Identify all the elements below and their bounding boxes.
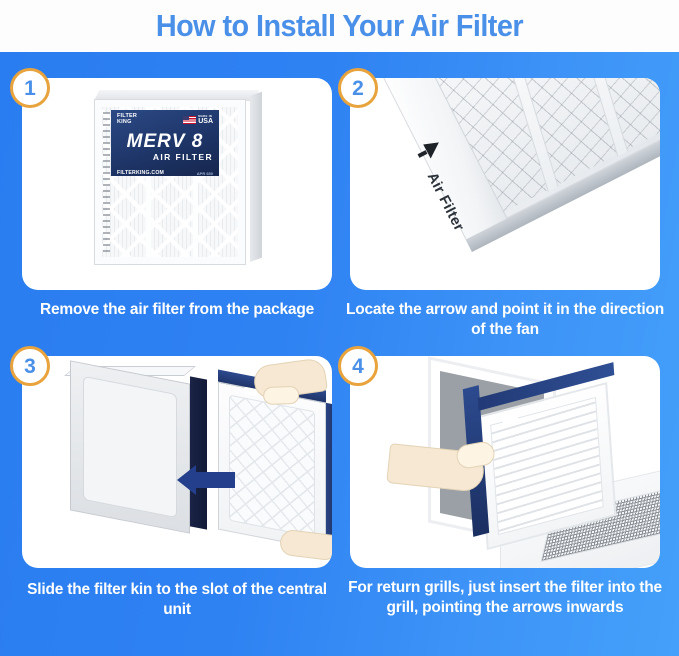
- made-in-country: USA: [198, 118, 213, 125]
- step-number-4: 4: [352, 356, 364, 377]
- brand-line-2: KING: [117, 120, 137, 126]
- hand-icon-bottom: [279, 529, 332, 562]
- made-in-usa-mark: MADE IN USA: [183, 115, 213, 125]
- apr-code: APR 650: [197, 171, 213, 176]
- step-card-1: FILTER KING MADE IN USA MER: [22, 78, 332, 290]
- step-number-badge-2: 2: [338, 68, 378, 108]
- step-caption-3: Slide the filter kin to the slot of the …: [17, 580, 337, 620]
- step-1-image-card: FILTER KING MADE IN USA MER: [22, 78, 332, 290]
- page-title: How to Install Your Air Filter: [156, 8, 523, 44]
- slide-direction-arrow-icon: [195, 472, 235, 488]
- brand-website: FILTERKING.COM: [117, 170, 164, 176]
- central-unit-panel: [83, 376, 177, 518]
- product-label: FILTER KING MADE IN USA MER: [111, 110, 219, 176]
- central-unit-slot-depth: [190, 376, 207, 529]
- step-3-illustration: [22, 356, 332, 568]
- filter-side-depth: [250, 92, 262, 262]
- step-card-4: 4: [350, 356, 660, 568]
- step-3-image-card: [22, 356, 332, 568]
- step-caption-2: Locate the arrow and point it in the dir…: [345, 300, 665, 340]
- step-number-1: 1: [24, 78, 36, 99]
- step-4-image-card: [350, 356, 660, 568]
- filter-pleat-edge: [103, 112, 110, 252]
- usa-flag-icon: [183, 116, 196, 124]
- step-1-illustration: FILTER KING MADE IN USA MER: [22, 78, 332, 290]
- label-footer-row: FILTERKING.COM APR 650: [117, 170, 213, 176]
- step-2-image-card: Air Filter: [350, 78, 660, 290]
- step-2-illustration: Air Filter: [350, 78, 660, 290]
- step-caption-4: For return grills, just insert the filte…: [345, 578, 665, 618]
- step-number-badge-1: 1: [10, 68, 50, 108]
- step-4-illustration: [350, 356, 660, 568]
- filter-front-face: FILTER KING MADE IN USA MER: [94, 99, 246, 265]
- hand-icon: [386, 443, 486, 493]
- step-card-2: Air Filter 2: [350, 78, 660, 290]
- product-type: AIR FILTER: [117, 152, 213, 162]
- step-number-badge-3: 3: [10, 346, 50, 386]
- step-card-3: 3: [22, 356, 332, 568]
- filter-side-band: [325, 403, 332, 554]
- label-header-row: FILTER KING MADE IN USA: [117, 114, 213, 126]
- filter-mesh-icon: [229, 395, 315, 538]
- merv-rating: MERV 8: [117, 132, 213, 151]
- step-number-2: 2: [352, 78, 364, 99]
- step-caption-1: Remove the air filter from the package: [17, 300, 337, 320]
- title-band: How to Install Your Air Filter: [0, 0, 679, 52]
- step-number-badge-4: 4: [338, 346, 378, 386]
- brand-logo: FILTER KING: [117, 114, 137, 126]
- step-number-3: 3: [24, 356, 36, 377]
- merv8-filter-product: FILTER KING MADE IN USA MER: [90, 90, 262, 268]
- replacement-filter: [218, 382, 326, 551]
- made-in-usa-text: MADE IN USA: [198, 115, 213, 125]
- central-unit-housing: [70, 360, 190, 533]
